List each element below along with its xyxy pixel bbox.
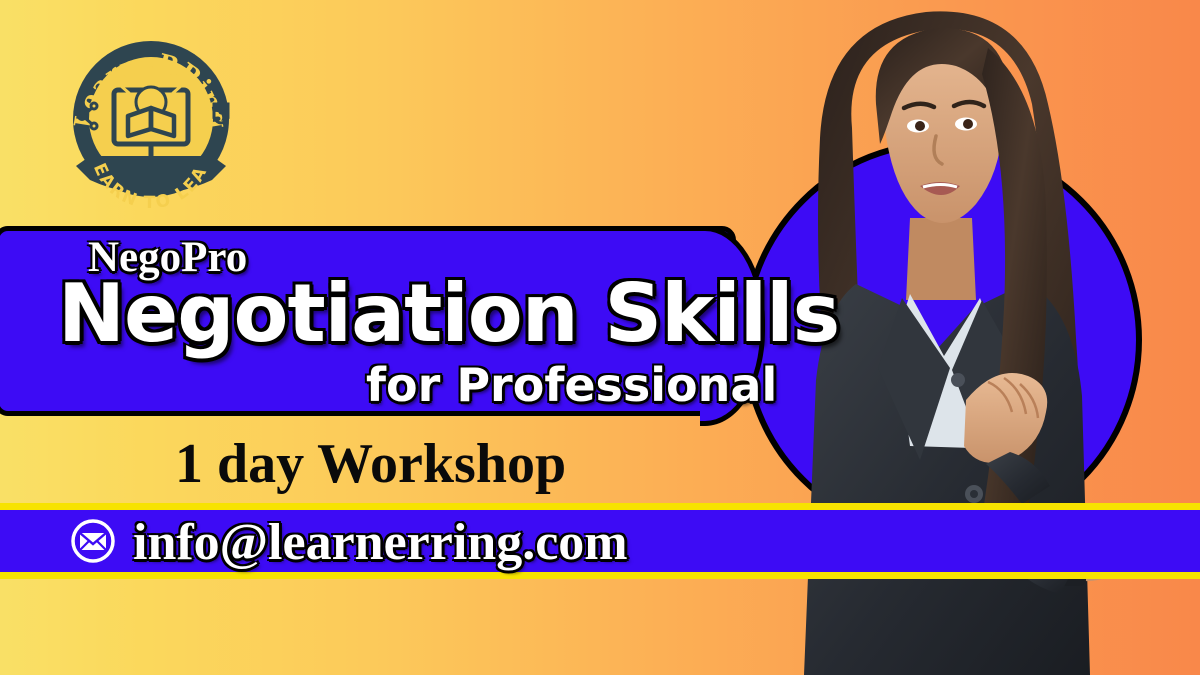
title-subhead: for Professional	[366, 362, 777, 408]
event-banner: LearneRRing	[0, 0, 1200, 675]
brand-logo: LearneRRing	[62, 30, 240, 208]
workshop-duration-label: 1 day Workshop	[175, 432, 566, 496]
title-headline: Negotiation Skills	[58, 274, 839, 354]
envelope-icon	[70, 518, 116, 564]
contact-email[interactable]: info@learnerring.com	[133, 513, 628, 572]
